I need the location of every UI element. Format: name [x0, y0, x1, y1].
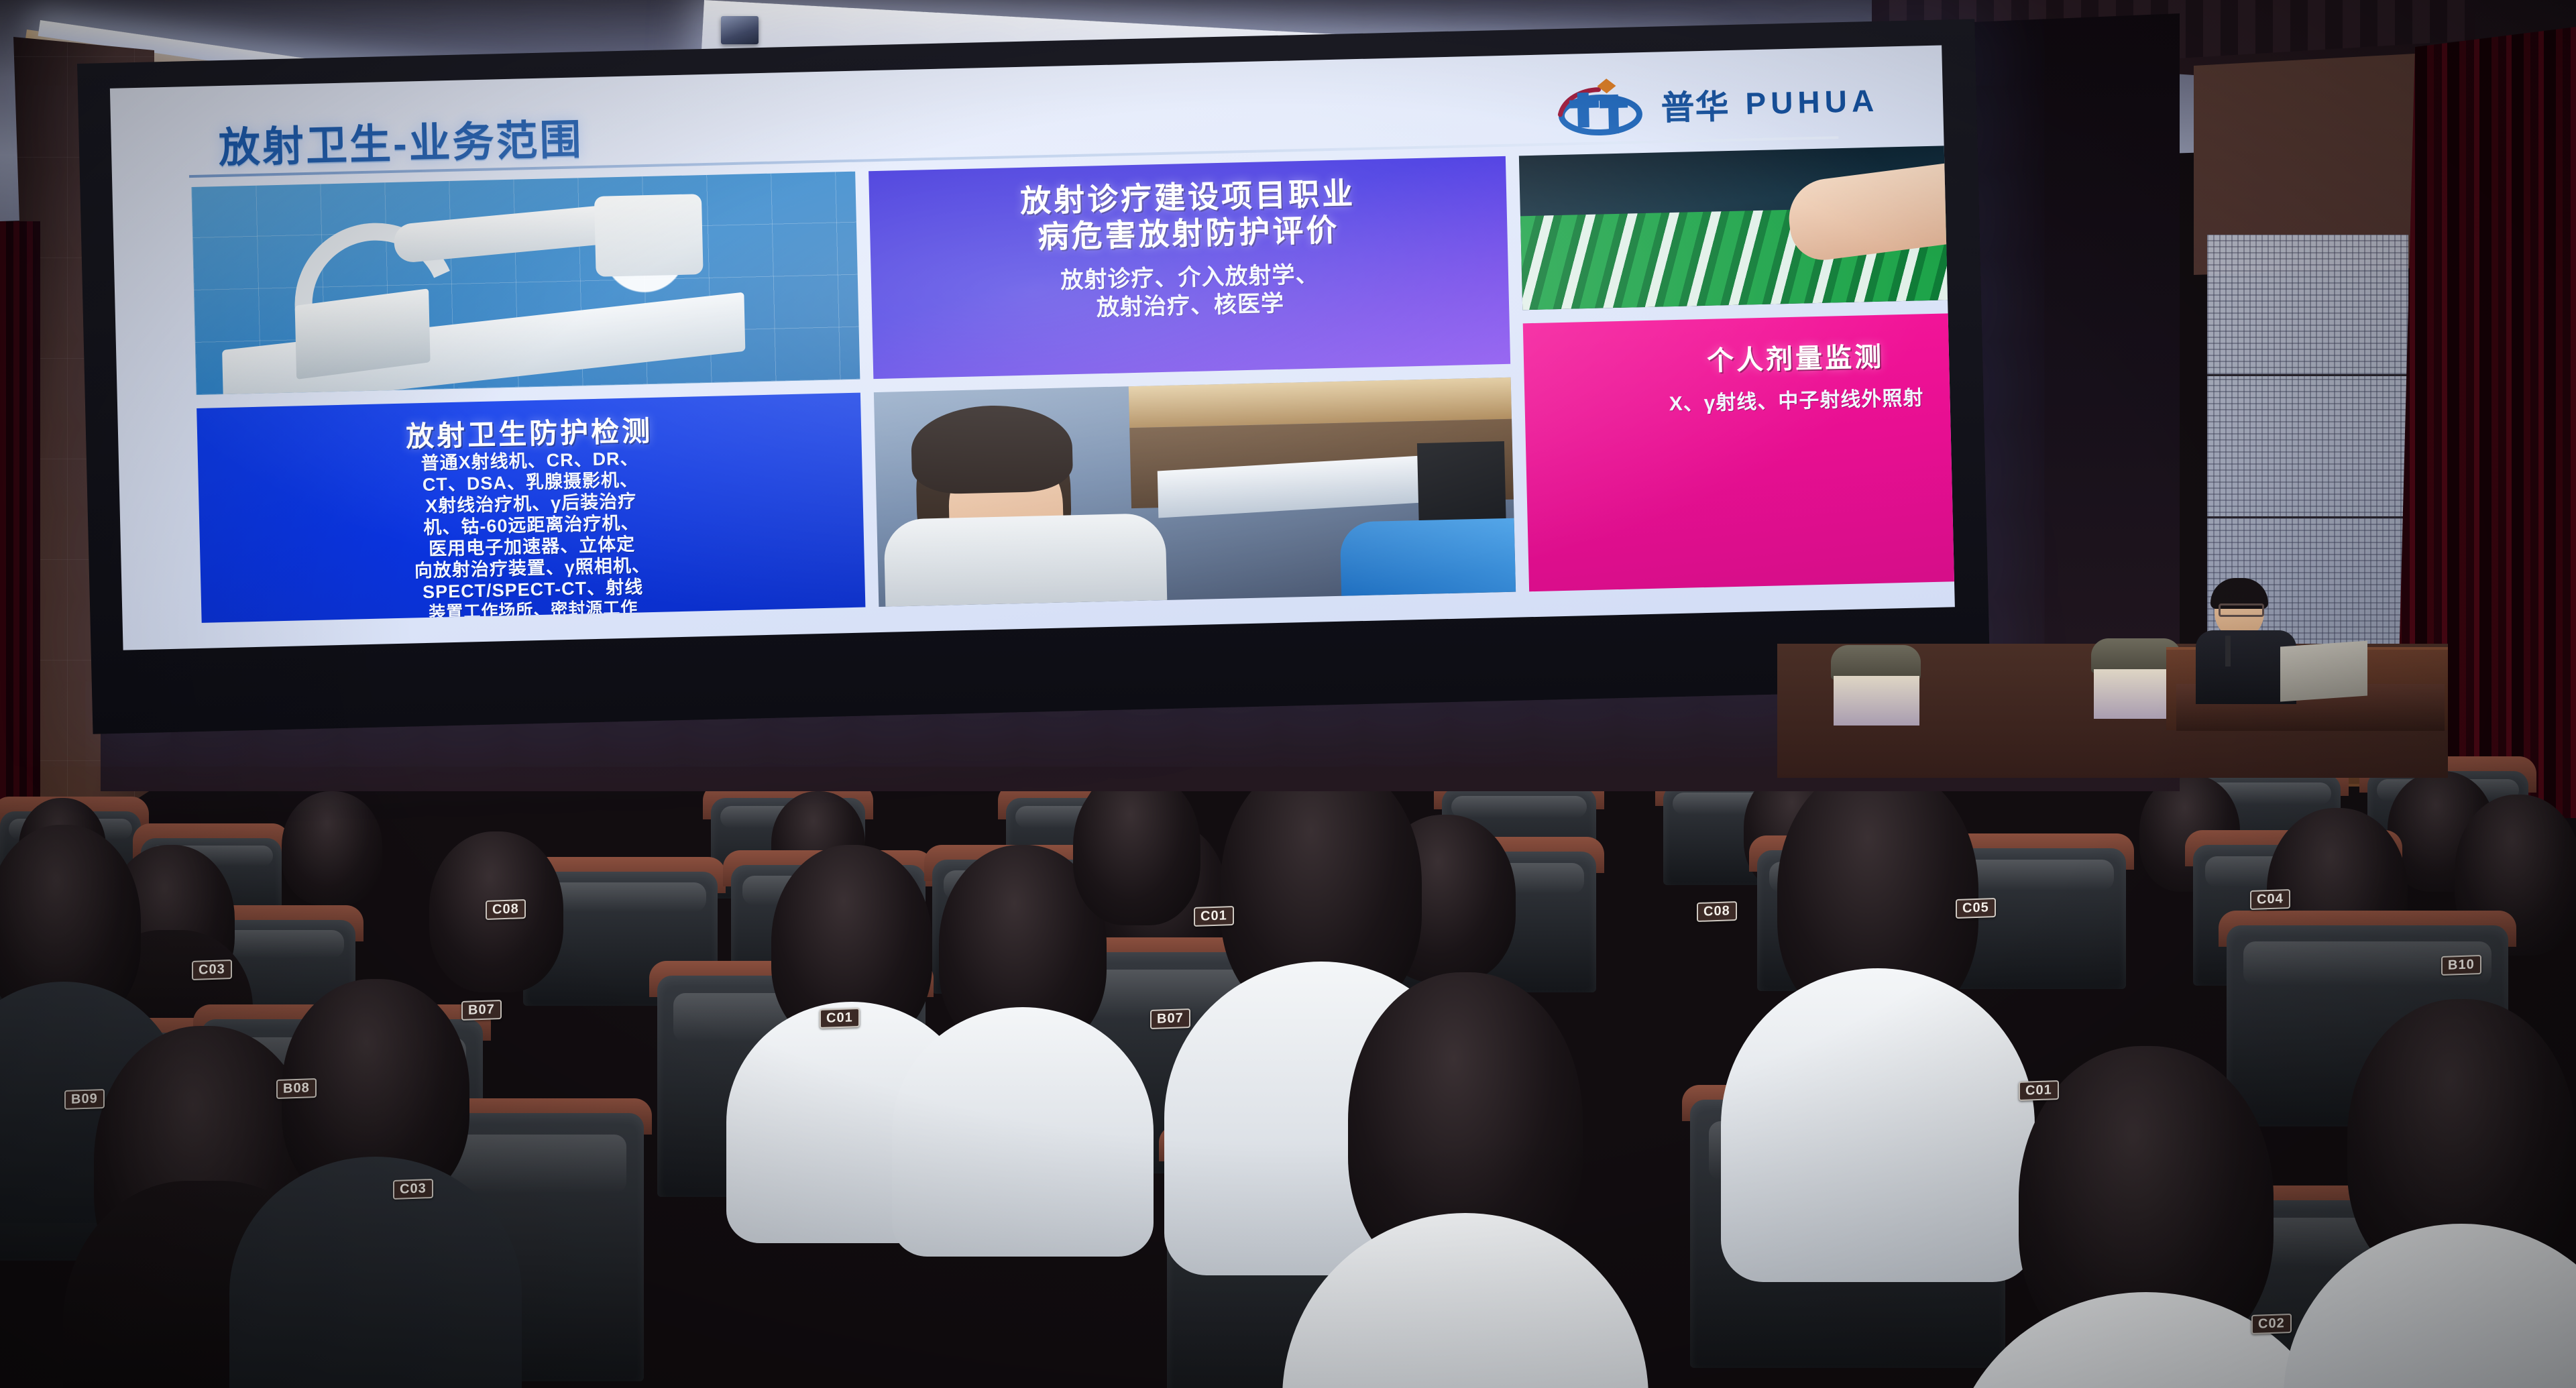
seat-tag: C08	[486, 899, 526, 920]
xray-tube-head	[594, 194, 704, 277]
speaker-glasses-icon	[2219, 603, 2264, 617]
xray-arm	[392, 205, 616, 264]
ceiling-downlight-1	[721, 16, 759, 44]
auditorium-scene: 放射卫生-业务范围 普华 PUHUA	[0, 0, 2576, 1388]
seat-tag: B10	[2441, 955, 2481, 976]
slide-title: 放射卫生-业务范围	[218, 105, 584, 174]
seat-tag: B08	[276, 1078, 317, 1099]
led-screen-frame: 放射卫生-业务范围 普华 PUHUA	[77, 19, 1991, 734]
seat-tag: C05	[1956, 898, 1996, 919]
seat-tag: C02	[2251, 1314, 2292, 1334]
photo-office-person	[874, 378, 1516, 607]
audience-person	[0, 825, 141, 1026]
photo-dosimeter-badges	[1519, 143, 1955, 310]
seat-tag: C01	[2019, 1080, 2059, 1101]
seat-tag: C01	[820, 1008, 860, 1029]
pink-box: 个人剂量监测 X、γ射线、中子射线外照射	[1523, 310, 1955, 591]
seat-tag: C03	[393, 1179, 433, 1200]
seat-tag: C08	[1697, 901, 1737, 922]
brand-name-en: PUHUA	[1745, 82, 1879, 122]
puhua-logo-svg	[1557, 76, 1653, 137]
person-hair	[910, 404, 1073, 495]
laptop-screen	[2280, 640, 2367, 701]
audience-person	[1348, 972, 1583, 1281]
seat-tag: C01	[1194, 906, 1234, 927]
brand-logo: 普华 PUHUA	[1557, 71, 1880, 137]
slide-content-grid: 放射诊疗建设项目职业 病危害放射防护评价 放射诊疗、介入放射学、 放射治疗、核医…	[191, 148, 1878, 623]
seat-tag: B07	[1150, 1008, 1190, 1029]
photo-xray-room	[191, 172, 860, 395]
presentation-screen: 放射卫生-业务范围 普华 PUHUA	[110, 45, 1955, 650]
purple-box: 放射诊疗建设项目职业 病危害放射防护评价 放射诊疗、介入放射学、 放射治疗、核医…	[869, 156, 1510, 379]
seat-tag: C03	[192, 960, 232, 980]
sleeve	[1950, 170, 1955, 273]
stage-chair-far-left	[1826, 645, 1926, 726]
puhua-mark-icon	[1557, 76, 1653, 137]
microphone	[2225, 636, 2231, 667]
brand-name-cn: 普华	[1661, 80, 1730, 129]
seat-tag: B07	[461, 1000, 502, 1021]
left-curtain	[0, 221, 40, 825]
audience-person	[282, 791, 382, 905]
audience-person	[1777, 764, 1978, 1026]
pink-box-body: X、γ射线、中子射线外照射	[1524, 383, 1955, 420]
seat-tag: B09	[64, 1089, 105, 1110]
audience-person	[2347, 999, 2575, 1287]
audience-person	[1073, 771, 1200, 925]
person-body	[883, 513, 1167, 607]
blue-box: 放射卫生防护检测 普通X射线机、CR、DR、 CT、DSA、乳腺摄影机、 X射线…	[197, 393, 865, 623]
blue-object	[1340, 518, 1516, 596]
seat-tag: C04	[2250, 889, 2290, 910]
pink-box-heading: 个人剂量监测	[1523, 331, 1954, 382]
